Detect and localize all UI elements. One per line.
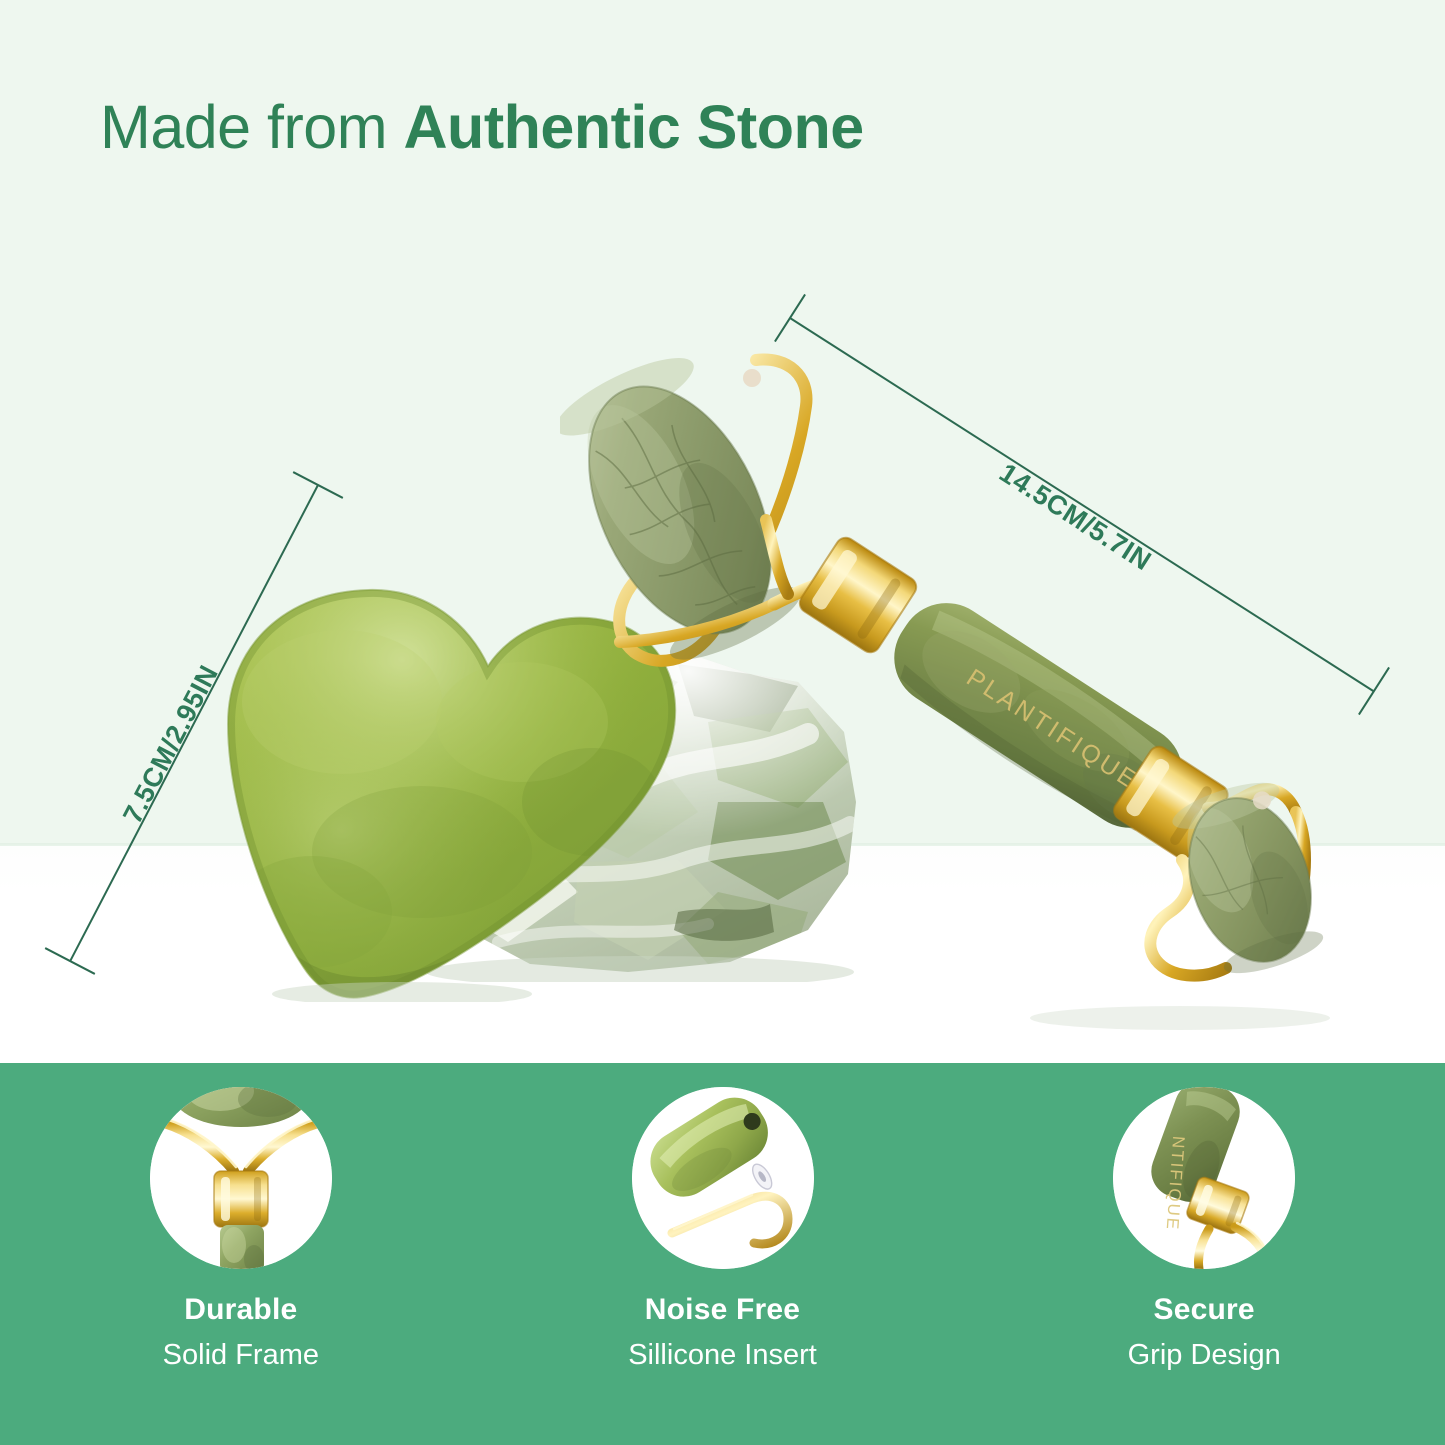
feature-noise-free: Noise Free Sillicone Insert xyxy=(482,1063,964,1445)
feature-title: Durable xyxy=(184,1293,297,1327)
feature-title: Secure xyxy=(1154,1293,1255,1327)
feature-subtitle: Sillicone Insert xyxy=(628,1339,817,1372)
feature-bar: Durable Solid Frame xyxy=(0,1063,1445,1445)
handle-collar-closeup-icon: NTIFIQUE xyxy=(1113,1087,1295,1269)
product-infographic: Made from Authentic Stone xyxy=(0,0,1445,1445)
feature-subtitle: Solid Frame xyxy=(163,1339,319,1372)
roller-head-small xyxy=(1166,773,1333,984)
feature-secure: NTIFIQUE xyxy=(963,1063,1445,1445)
hero-product-photo: PLANTIFIQUE xyxy=(0,0,1445,1063)
dimension-cap-guasha-start xyxy=(293,471,344,499)
feature-durable: Durable Solid Frame xyxy=(0,1063,482,1445)
roller-joint-closeup-icon xyxy=(150,1087,332,1269)
dimension-cap-roller-end xyxy=(1358,667,1390,715)
feature-title: Noise Free xyxy=(645,1293,800,1327)
feature-subtitle: Grip Design xyxy=(1128,1339,1281,1372)
silicone-insert-closeup-icon xyxy=(632,1087,814,1269)
dimension-cap-roller-start xyxy=(774,294,806,342)
jade-roller: PLANTIFIQUE xyxy=(560,340,1360,1040)
